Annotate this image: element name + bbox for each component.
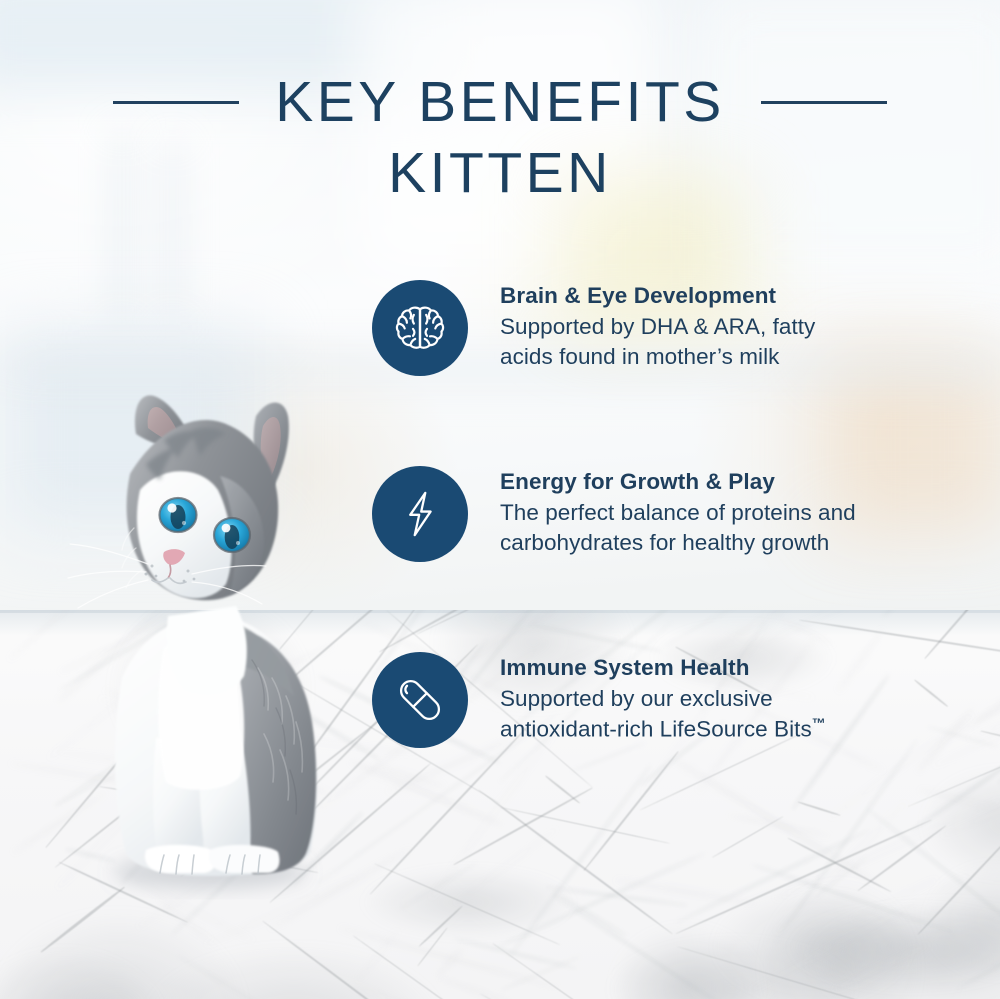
benefit-description: Supported by DHA & ARA, fatty acids foun… [500,312,815,372]
benefit-description: The perfect balance of proteins and carb… [500,498,856,558]
title-row: KEY BENEFITS [0,74,1000,131]
benefit-title: Energy for Growth & Play [500,467,856,497]
benefit-description: Supported by our exclusive antioxidant-r… [500,684,826,745]
rule-left-icon [113,101,239,104]
benefit-copy: Brain & Eye Development Supported by DHA… [500,280,815,372]
page-subtitle: KITTEN [0,145,1000,202]
benefit-copy: Immune System Health Supported by our ex… [500,652,826,745]
benefit-title: Brain & Eye Development [500,281,815,311]
benefit-item: Immune System Health Supported by our ex… [372,652,972,838]
benefit-desc-line-1: Supported by our exclusive [500,686,773,711]
benefit-desc-line-2: antioxidant-rich LifeSource Bits [500,716,812,741]
kitten-photo [60,378,360,898]
benefits-list: Brain & Eye Development Supported by DHA… [372,280,972,838]
benefit-desc-line-2: acids found in mother’s milk [500,344,779,369]
benefit-icon-badge [372,652,468,748]
benefit-desc-line-1: The perfect balance of proteins and [500,500,856,525]
benefit-item: Brain & Eye Development Supported by DHA… [372,280,972,466]
benefit-desc-line-1: Supported by DHA & ARA, fatty [500,314,815,339]
benefit-desc-line-2: carbohydrates for healthy growth [500,530,829,555]
rule-right-icon [761,101,887,104]
page-title: KEY BENEFITS [275,74,725,131]
capsule-pill-icon [392,672,448,728]
benefit-item: Energy for Growth & Play The perfect bal… [372,466,972,652]
benefit-copy: Energy for Growth & Play The perfect bal… [500,466,856,558]
key-benefits-banner: KEY BENEFITS KITTEN [0,0,1000,999]
benefit-title: Immune System Health [500,653,826,683]
brain-icon [392,300,448,356]
trademark-symbol: ™ [812,715,826,731]
benefit-icon-badge [372,280,468,376]
benefit-icon-badge [372,466,468,562]
banner-header: KEY BENEFITS KITTEN [0,74,1000,202]
lightning-bolt-icon [394,488,446,540]
